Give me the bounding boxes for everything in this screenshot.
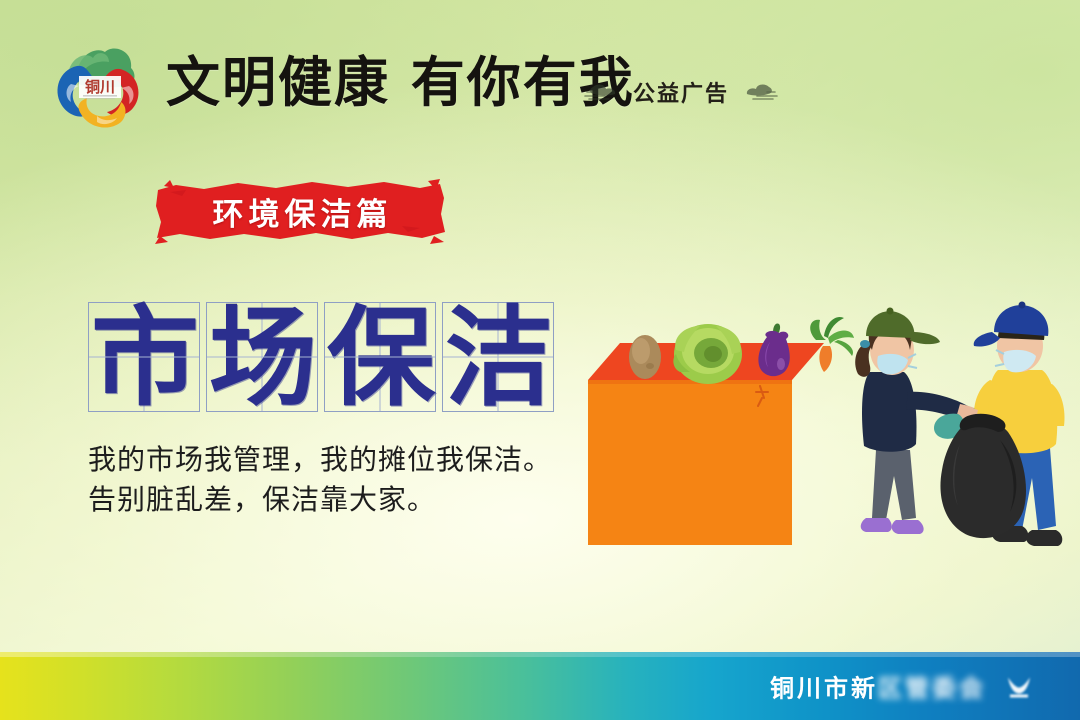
ad-tag-label: 公益广告	[633, 76, 729, 108]
title-character: 场	[201, 279, 325, 437]
broadcast-logo-icon	[1004, 671, 1034, 701]
footer-highlight-line	[0, 652, 1080, 657]
title-character-cell: 保	[324, 302, 436, 412]
footer-bar: 铜川市新区管委会	[0, 652, 1080, 720]
public-service-ad-tag: 公益广告	[583, 76, 779, 108]
cloud-flourish-icon	[737, 81, 779, 103]
title-character-cell: 洁	[442, 302, 554, 412]
shoe	[1026, 530, 1062, 546]
main-title-grid: 市 场 保 洁	[88, 302, 554, 412]
slogan-line-2: 告别脏乱差，保洁靠大家。	[88, 480, 608, 520]
slogan-block: 我的市场我管理，我的摊位我保洁。 告别脏乱差，保洁靠大家。	[88, 440, 608, 520]
title-character: 保	[319, 279, 443, 437]
poster-headline: 文明健康 有你有我	[166, 52, 635, 114]
chapter-banner: 环境保洁篇	[152, 176, 448, 246]
svg-text:铜川: 铜川	[85, 78, 115, 96]
public-service-poster: 铜川 文明健康 有你有我 公益广告 环境保洁篇	[0, 0, 1080, 720]
shoe	[892, 520, 924, 534]
chapter-label: 环境保洁篇	[152, 176, 448, 246]
footer-credit: 铜川市新区管委会	[770, 669, 1034, 704]
title-character-cell: 场	[206, 302, 318, 412]
title-character: 市	[83, 279, 207, 437]
credit-blurred-text: 区管委会	[878, 669, 986, 704]
eggplant-icon	[758, 323, 789, 376]
slogan-line-1: 我的市场我管理，我的摊位我保洁。	[88, 440, 608, 480]
credit-organization: 铜川市新区管委会	[770, 669, 986, 704]
tongchuan-city-emblem-icon: 铜川	[47, 36, 151, 140]
credit-visible-text: 铜川市新	[770, 675, 878, 703]
title-character: 洁	[437, 279, 561, 437]
poster-header: 铜川 文明健康 有你有我 公益广告	[0, 0, 1080, 160]
potato-icon	[629, 335, 661, 379]
title-character-cell: 市	[88, 302, 200, 412]
market-cleanup-illustration	[560, 280, 1080, 570]
shoe	[861, 518, 892, 532]
cloud-flourish-icon	[583, 81, 625, 103]
